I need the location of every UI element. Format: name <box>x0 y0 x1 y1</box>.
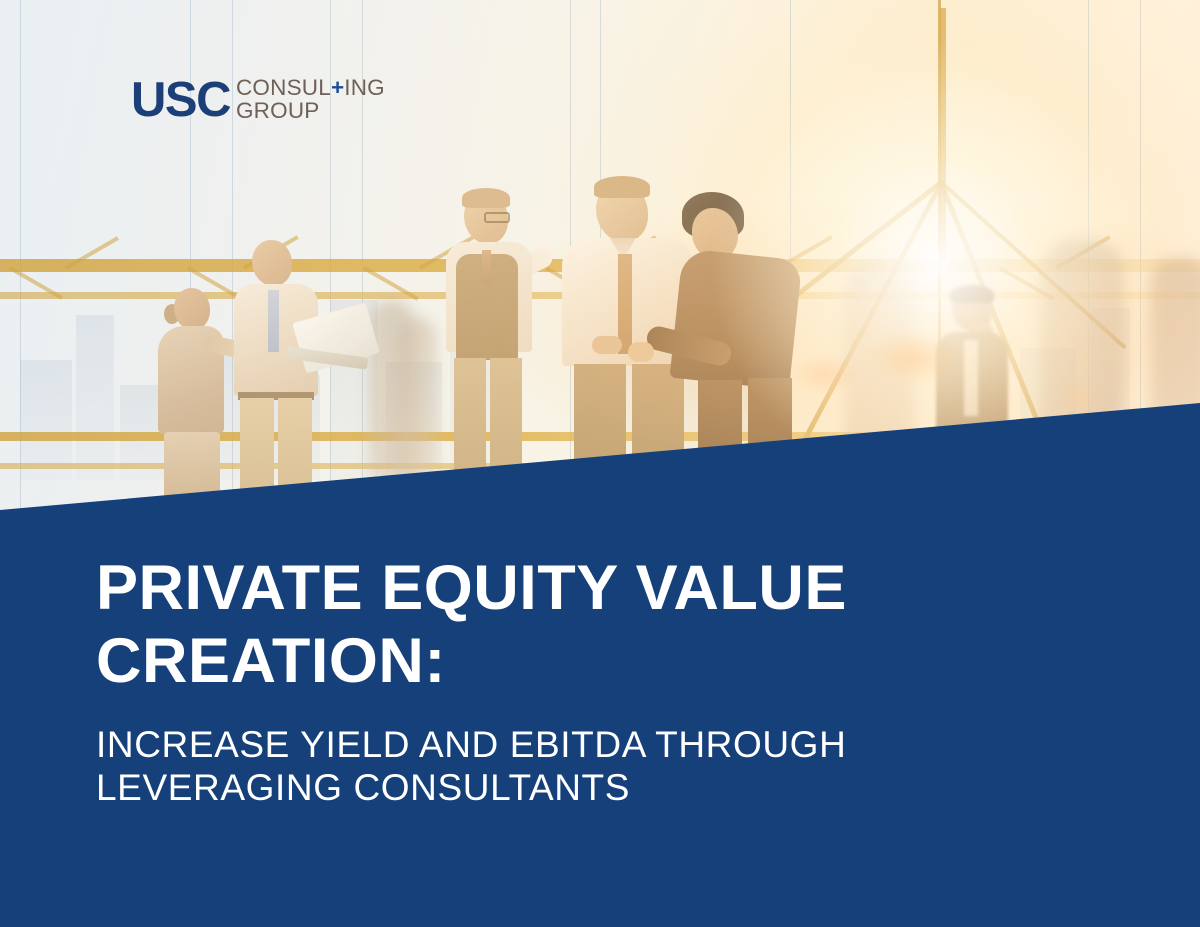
subtitle-line-1: INCREASE YIELD AND EBITDA THROUGH <box>96 724 846 765</box>
usc-consulting-group-logo: USC CONSUL+ING GROUP <box>131 74 385 125</box>
logo-usc-mark: USC <box>131 76 230 125</box>
cover-title-block: PRIVATE EQUITY VALUE CREATION: INCREASE … <box>96 552 1046 810</box>
report-cover-page: USC CONSUL+ING GROUP PRIVATE EQUITY VALU… <box>0 0 1200 927</box>
background-person-silhouette <box>398 318 436 483</box>
page-title: PRIVATE EQUITY VALUE CREATION: <box>96 552 1046 698</box>
title-line-1: PRIVATE EQUITY VALUE <box>96 553 847 623</box>
roof-strut <box>940 8 946 260</box>
page-subtitle: INCREASE YIELD AND EBITDA THROUGH LEVERA… <box>96 724 1046 810</box>
title-line-2: CREATION: <box>96 626 446 696</box>
person-man-with-laptop <box>226 240 346 512</box>
subtitle-line-2: LEVERAGING CONSULTANTS <box>96 767 630 808</box>
plus-icon: + <box>331 75 344 100</box>
logo-consul-text: CONSUL <box>236 75 331 100</box>
logo-ing-text: ING <box>344 75 385 100</box>
logo-line-group: GROUP <box>236 100 385 123</box>
logo-line-consulting: CONSUL+ING <box>236 77 385 100</box>
logo-wordmark: CONSUL+ING GROUP <box>236 77 385 123</box>
